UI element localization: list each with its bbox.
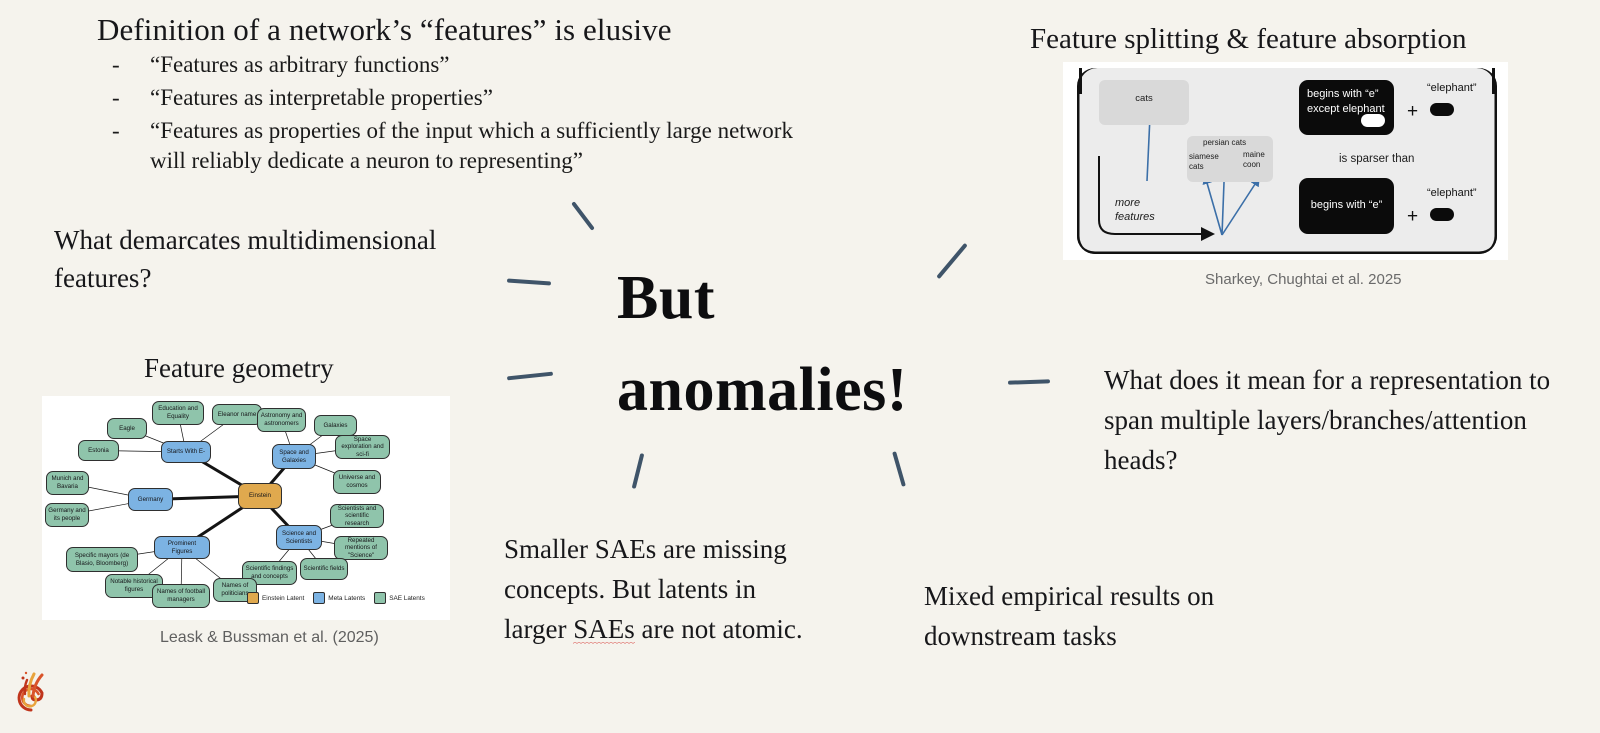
legend-label: Meta Latents [328,595,365,602]
black-box-top: begins with “e” except elephant [1299,80,1394,135]
legend-swatch [313,592,325,604]
persian-cats-label: persian cats [1203,138,1246,147]
graph-node-estonia[interactable]: Estonia [78,440,119,461]
feature-geometry-graph: EinsteinStarts With E-GermanyProminent F… [42,396,450,620]
graph-node-space_expl[interactable]: Space exploration and sci-fi [335,435,390,459]
feature-splitting-panel: cats persian cats siamese cats maine coo… [1077,68,1497,254]
burst-line-1: But [617,252,977,344]
bullet-text: “Features as arbitrary functions” [150,50,832,80]
black-pill-icon-top [1430,103,1454,116]
center-burst-text: But anomalies! [617,252,977,436]
legend-item-2: SAE Latents [374,592,425,604]
burst-ray-bottom-right [892,451,906,487]
graph-node-space_gal[interactable]: Space and Galaxies [272,444,316,469]
graph-node-astronomy[interactable]: Astronomy and astronomers [257,408,306,432]
legend-label: Einstein Latent [262,595,304,602]
feature-splitting-caption: Sharkey, Chughtai et al. 2025 [1205,271,1402,288]
spiral-flame-logo-icon [11,666,51,714]
graph-node-universe[interactable]: Universe and cosmos [333,470,381,494]
legend-label: SAE Latents [389,595,425,602]
definition-bullet-list: - “Features as arbitrary functions” - “F… [112,50,832,179]
siamese-cats-label: siamese cats [1189,152,1223,172]
graph-node-galaxies[interactable]: Galaxies [314,415,357,436]
graph-node-football[interactable]: Names of football managers [152,584,210,608]
graph-node-repeated[interactable]: Repeated mentions of "Science" [334,536,388,560]
feature-splitting-figure: cats persian cats siamese cats maine coo… [1063,62,1508,260]
question-smaller-saes: Smaller SAEs are missing concepts. But l… [504,529,824,649]
elephant-label-top: “elephant” [1427,82,1477,94]
graph-node-scientists[interactable]: Scientists and scientific research [330,504,384,528]
burst-ray-right [1008,379,1050,384]
more-features-label: more features [1115,196,1175,224]
black-pill-icon-bottom [1430,208,1454,221]
list-item: - “Features as arbitrary functions” [112,50,832,80]
graph-node-munich[interactable]: Munich and Bavaria [46,471,89,495]
black-box-top-line-1: begins with “e” [1307,87,1379,102]
burst-ray-left-lower [507,372,553,381]
question-span-layers: What does it mean for a representation t… [1104,360,1584,480]
black-box-bottom-label: begins with “e” [1299,198,1394,213]
bullet-text: “Features as interpretable properties” [150,83,832,113]
definition-heading: Definition of a network’s “features” is … [97,12,672,48]
legend-swatch [247,592,259,604]
bullet-marker: - [112,116,150,176]
graph-legend: Einstein LatentMeta LatentsSAE Latents [247,592,425,604]
is-sparser-than-label: is sparser than [1339,153,1414,165]
burst-ray-left-upper [507,278,551,285]
cats-group-box: cats [1099,80,1189,125]
bullet-text: “Features as properties of the input whi… [150,116,832,176]
question-demarcates: What demarcates multidimensional feature… [54,221,474,297]
question-mixed-results: Mixed empirical results on downstream ta… [924,576,1274,656]
bullet-marker: - [112,50,150,80]
bullet-marker: - [112,83,150,113]
burst-ray-bottom-left [632,453,645,489]
feature-geometry-title: Feature geometry [144,353,334,384]
slide-canvas: Definition of a network’s “features” is … [0,0,1600,733]
elephant-label-bottom: “elephant” [1427,187,1477,199]
graph-node-germany[interactable]: Germany [128,488,173,511]
list-item: - “Features as properties of the input w… [112,116,832,176]
maine-coon-label: maine coon [1243,150,1273,170]
graph-node-sci_fields[interactable]: Scientific fields [300,558,348,580]
legend-item-1: Meta Latents [313,592,365,604]
graph-node-education[interactable]: Education and Equality [152,401,204,425]
burst-ray-top-left [571,201,595,231]
graph-node-prominent[interactable]: Prominent Figures [154,536,210,559]
legend-swatch [374,592,386,604]
list-item: - “Features as interpretable properties” [112,83,832,113]
plus-symbol-top: + [1407,101,1418,123]
feature-splitting-title: Feature splitting & feature absorption [1030,23,1467,56]
feature-geometry-caption: Leask & Bussman et al. (2025) [160,629,379,647]
graph-node-mayors[interactable]: Specific mayors (de Blasio, Bloomberg) [66,547,138,572]
graph-node-starts_e[interactable]: Starts With E- [161,441,211,463]
graph-node-eagle[interactable]: Eagle [107,418,147,439]
legend-item-0: Einstein Latent [247,592,304,604]
smaller-saes-text-part2: are not atomic. [635,614,803,644]
white-pill-icon [1361,114,1385,127]
graph-node-germany_ppl[interactable]: Germany and its people [45,503,89,527]
smaller-saes-misspelled-word: SAEs [573,614,635,646]
graph-node-eleanor[interactable]: Eleanor name [212,404,262,425]
cats-label: cats [1099,93,1189,104]
graph-node-science_sci[interactable]: Science and Scientists [276,525,322,550]
graph-node-einstein[interactable]: Einstein [238,483,282,509]
plus-symbol-bottom: + [1407,206,1418,228]
burst-line-2: anomalies! [617,344,977,436]
black-box-bottom: begins with “e” [1299,178,1394,234]
